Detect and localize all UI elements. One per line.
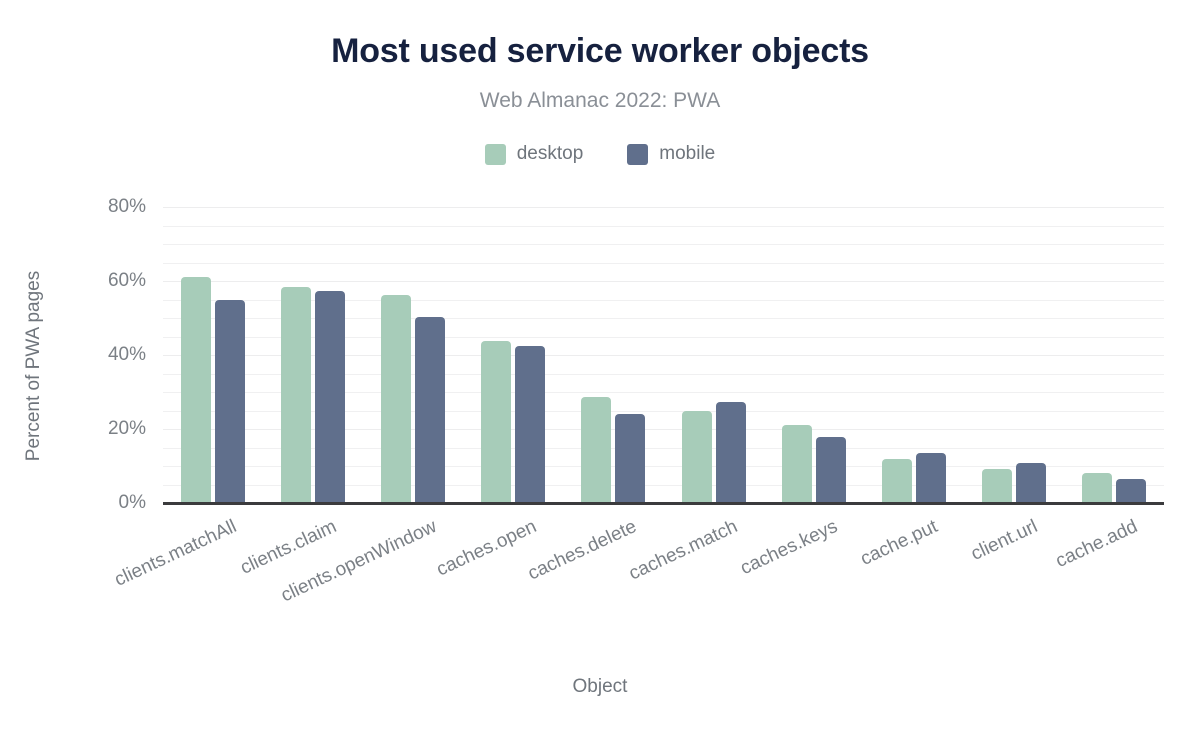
y-tick-label: 80% [28,196,146,218]
y-tick-label: 40% [28,344,146,366]
bar-group [664,207,764,503]
bar-mobile[interactable] [215,300,245,504]
x-axis-title: Object [0,676,1200,698]
bar-group [964,207,1064,503]
bar-desktop[interactable] [281,287,311,503]
x-axis-line [163,502,1164,505]
bar-mobile[interactable] [315,291,345,503]
bar-desktop[interactable] [882,459,912,503]
bar-group [163,207,263,503]
bar-desktop[interactable] [381,295,411,503]
bar-desktop[interactable] [1082,473,1112,503]
bar-group [764,207,864,503]
bar-desktop[interactable] [481,341,511,503]
bar-desktop[interactable] [181,277,211,503]
bar-desktop[interactable] [581,397,611,503]
bar-mobile[interactable] [1016,463,1046,503]
bar-group [463,207,563,503]
bar-mobile[interactable] [916,453,946,503]
bar-mobile[interactable] [716,402,746,503]
bar-group [864,207,964,503]
chart-figure: Most used service worker objects Web Alm… [0,0,1200,742]
y-tick-label: 20% [28,418,146,440]
bar-mobile[interactable] [615,414,645,503]
y-tick-label: 60% [28,270,146,292]
bar-mobile[interactable] [515,346,545,503]
bar-mobile[interactable] [415,317,445,503]
bar-group [263,207,363,503]
bar-desktop[interactable] [782,425,812,503]
bar-mobile[interactable] [1116,479,1146,503]
bar-group [363,207,463,503]
bar-desktop[interactable] [682,411,712,503]
bar-mobile[interactable] [816,437,846,503]
bar-group [563,207,663,503]
plot-area [163,207,1164,503]
bar-desktop[interactable] [982,469,1012,503]
bar-group [1064,207,1164,503]
y-tick-label: 0% [28,492,146,514]
